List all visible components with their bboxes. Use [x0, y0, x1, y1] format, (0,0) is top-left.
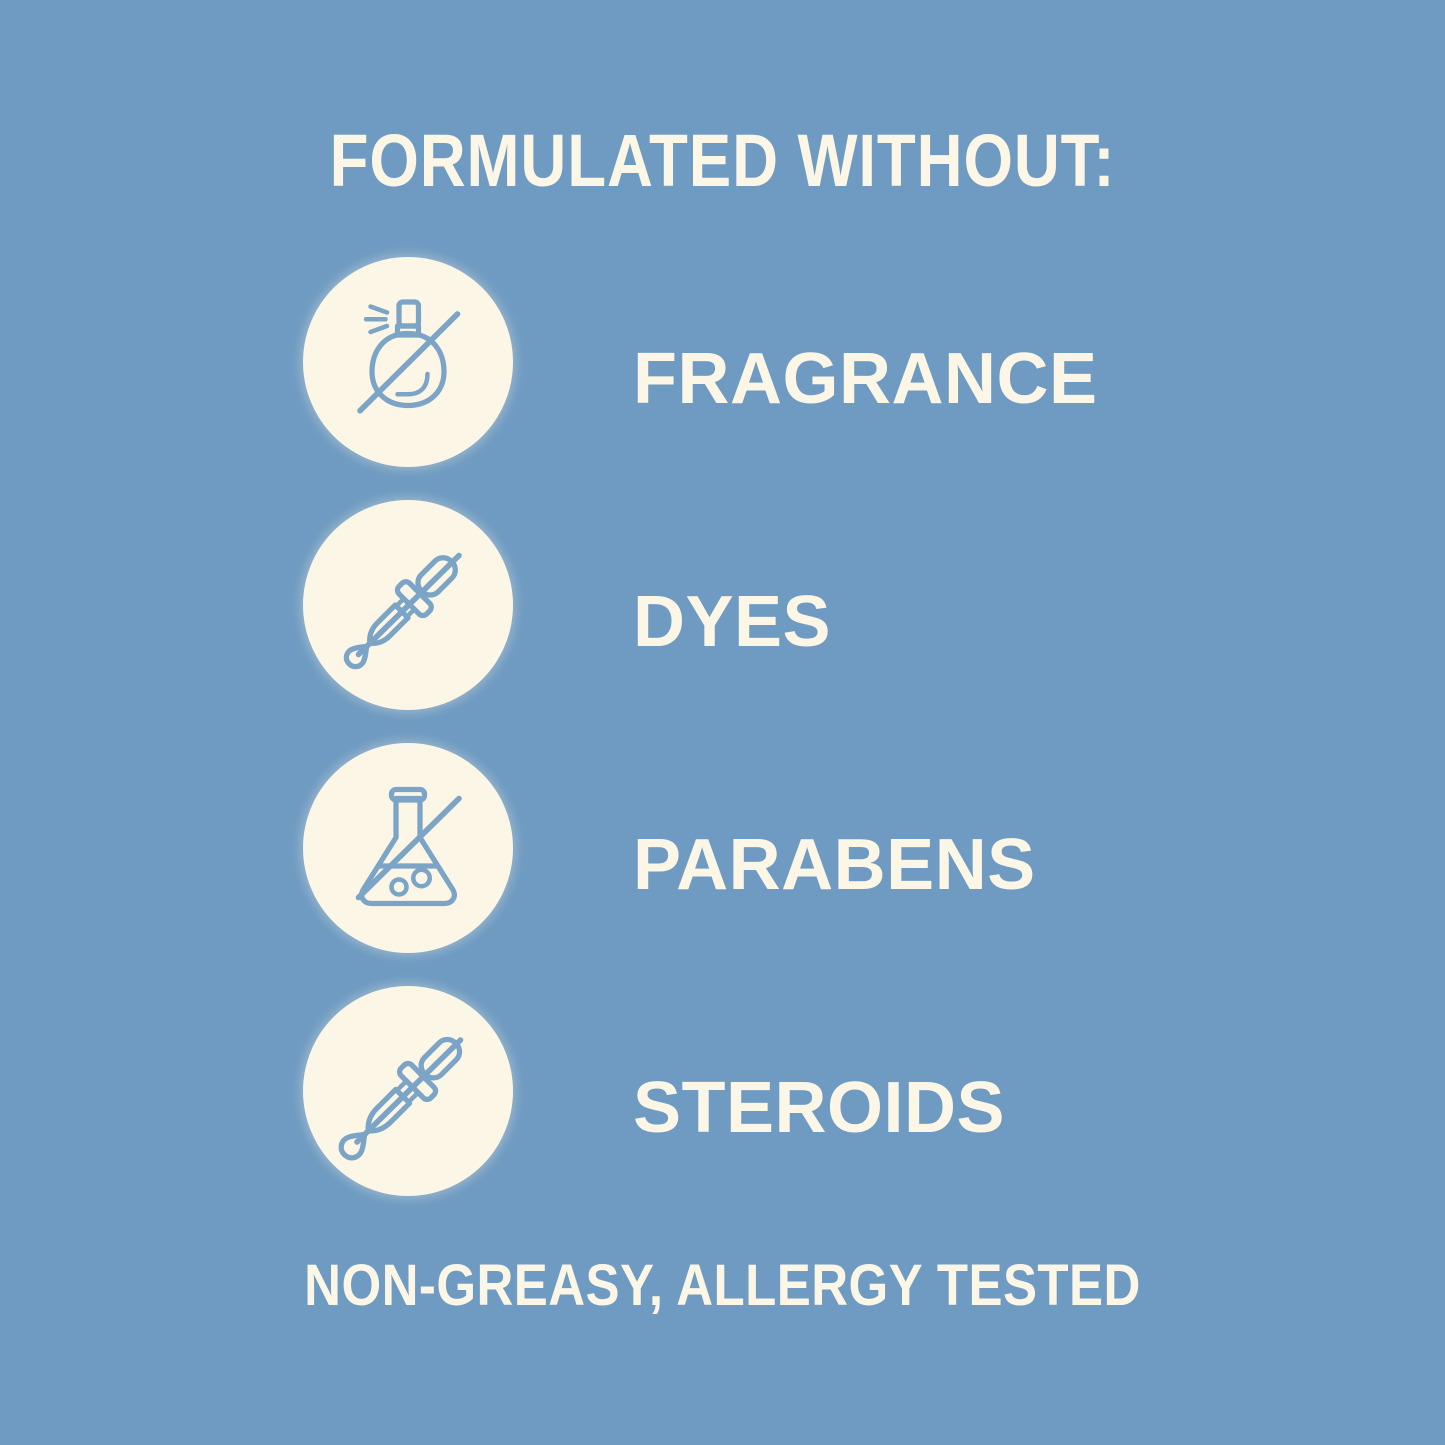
footer-claim: NON-GREASY, ALLERGY TESTED: [87, 1252, 1359, 1320]
list-item: FRAGRANCE: [0, 257, 1445, 500]
list-item: PARABENS: [0, 743, 1445, 986]
claims-list: FRAGRANCE: [0, 257, 1445, 1229]
list-item-label: STEROIDS: [633, 1069, 1005, 1147]
list-item: STEROIDS: [0, 986, 1445, 1229]
no-erlenmeyer-flask-icon: [303, 743, 513, 953]
list-item: DYES: [0, 500, 1445, 743]
page-title: FORMULATED WITHOUT:: [101, 117, 1344, 205]
list-item-label: PARABENS: [633, 826, 1036, 904]
no-dropper-pipette-icon: [303, 500, 513, 710]
list-item-label: FRAGRANCE: [633, 340, 1097, 418]
formulated-without-graphic: FORMULATED WITHOUT:: [0, 0, 1445, 1445]
no-dropper-drop-icon: [303, 986, 513, 1196]
no-perfume-spray-bottle-icon: [303, 257, 513, 467]
list-item-label: DYES: [633, 583, 831, 661]
